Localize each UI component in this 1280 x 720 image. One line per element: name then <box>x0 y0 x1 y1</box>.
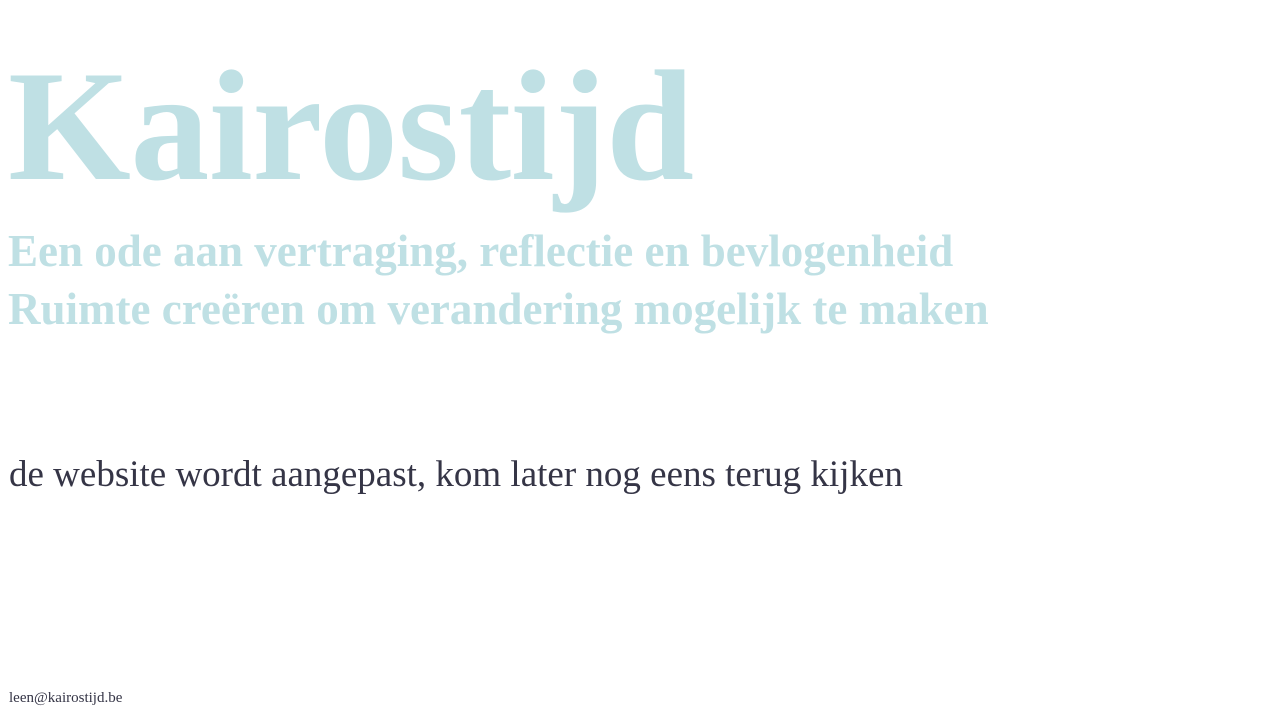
maintenance-notice: de website wordt aangepast, kom later no… <box>9 452 903 498</box>
contact-email-link[interactable]: leen@kairostijd.be <box>9 688 122 708</box>
tagline-line-2: Ruimte creëren om verandering mogelijk t… <box>8 280 1280 338</box>
tagline-block: Een ode aan vertraging, reflectie en bev… <box>8 222 1280 338</box>
site-footer: leen@kairostijd.be <box>0 676 1280 720</box>
site-title: Kairostijd <box>8 48 694 206</box>
page-root: Kairostijd Een ode aan vertraging, refle… <box>0 0 1280 720</box>
tagline-line-1: Een ode aan vertraging, reflectie en bev… <box>8 222 1280 280</box>
